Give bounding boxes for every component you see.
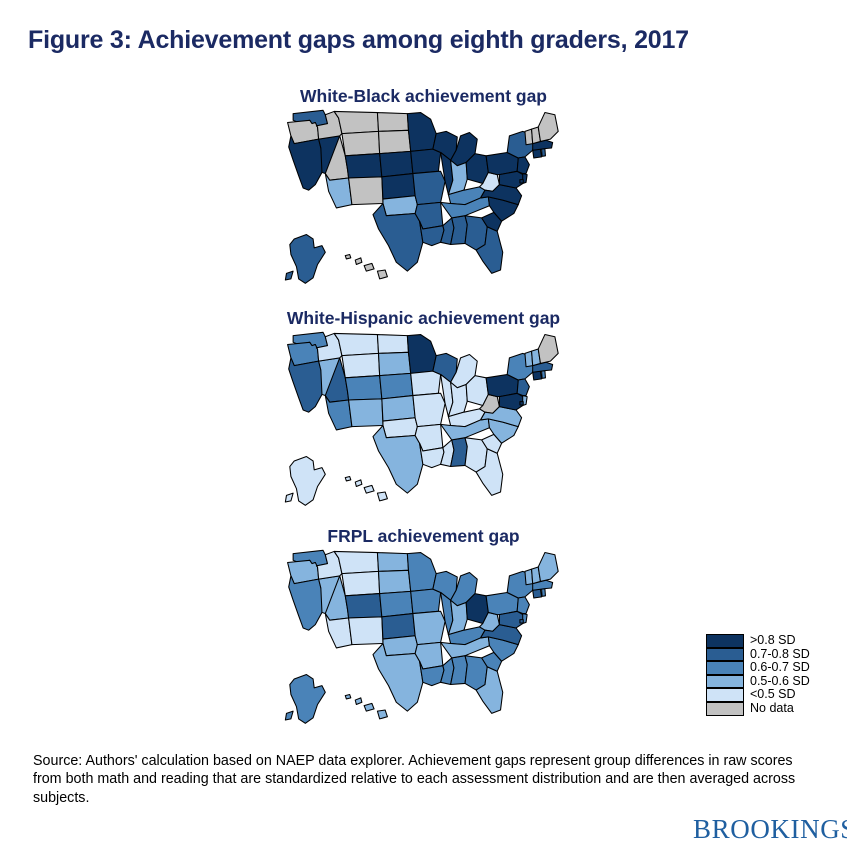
state-hi[interactable]: HI: <0.5 SD — [345, 477, 387, 501]
state-wy[interactable]: WY: <0.5 SD — [341, 571, 379, 595]
choropleth-map-frpl[interactable]: WA: 0.6-0.7 SDOR: 0.5-0.6 SDCA: 0.6-0.7 … — [274, 547, 574, 730]
us-choropleth-svg: WA: 0.7-0.8 SDOR: No dataCA: >0.8 SDNV: … — [274, 107, 574, 290]
state-ri[interactable]: RI: 0.6-0.7 SD — [541, 371, 545, 379]
legend-item: >0.8 SD — [706, 634, 838, 648]
state-ak[interactable]: AK: 0.7-0.8 SD — [285, 235, 325, 284]
state-al[interactable]: AL: 0.7-0.8 SD — [450, 438, 467, 467]
state-ok[interactable]: OK: 0.5-0.6 SD — [382, 196, 416, 216]
state-az[interactable]: AZ: 0.6-0.7 SD — [325, 396, 352, 430]
legend-label: 0.5-0.6 SD — [750, 675, 810, 689]
state-mo[interactable]: MO: 0.7-0.8 SD — [412, 171, 444, 204]
state-ia[interactable]: IA: <0.5 SD — [410, 371, 440, 395]
map-panel-title: FRPL achievement gap — [0, 526, 847, 547]
legend-item: <0.5 SD — [706, 688, 838, 702]
legend-swatch — [706, 648, 744, 662]
legend-label: <0.5 SD — [750, 688, 796, 702]
map-panel-white-hispanic: White-Hispanic achievement gap WA: 0.6-0… — [0, 308, 847, 512]
state-ne[interactable]: NE: 0.6-0.7 SD — [379, 591, 412, 617]
state-wy[interactable]: WY: <0.5 SD — [341, 353, 379, 377]
legend-item: No data — [706, 702, 838, 716]
map-container: WA: 0.6-0.7 SDOR: 0.6-0.7 SDCA: 0.7-0.8 … — [0, 329, 847, 512]
source-note: Source: Authors' calculation based on NA… — [33, 752, 823, 807]
state-nm[interactable]: NM: 0.5-0.6 SD — [348, 399, 382, 427]
state-ri[interactable]: RI: 0.6-0.7 SD — [541, 589, 545, 597]
state-ne[interactable]: NE: >0.8 SD — [379, 151, 412, 177]
state-co[interactable]: CO: 0.7-0.8 SD — [345, 594, 382, 618]
legend-label: No data — [750, 702, 794, 716]
state-nd[interactable]: ND: <0.5 SD — [377, 335, 408, 354]
legend-label: >0.8 SD — [750, 634, 796, 648]
state-ak[interactable]: AK: <0.5 SD — [285, 457, 325, 506]
state-mt[interactable]: MT: <0.5 SD — [334, 551, 378, 573]
legend-swatch — [706, 634, 744, 648]
state-mn[interactable]: MN: >0.8 SD — [407, 113, 436, 152]
state-nd[interactable]: ND: 0.5-0.6 SD — [377, 553, 408, 572]
map-container: WA: 0.7-0.8 SDOR: No dataCA: >0.8 SDNV: … — [0, 107, 847, 290]
state-co[interactable]: CO: >0.8 SD — [345, 154, 382, 178]
state-me[interactable]: ME: No data — [538, 113, 558, 142]
state-al[interactable]: AL: 0.6-0.7 SD — [450, 656, 467, 685]
state-mt[interactable]: MT: <0.5 SD — [334, 333, 378, 355]
state-mo[interactable]: MO: <0.5 SD — [412, 393, 444, 426]
us-choropleth-svg: WA: 0.6-0.7 SDOR: 0.5-0.6 SDCA: 0.6-0.7 … — [274, 547, 574, 730]
state-nj[interactable]: NJ: 0.6-0.7 SD — [517, 597, 529, 614]
state-me[interactable]: ME: 0.5-0.6 SD — [538, 553, 558, 582]
state-az[interactable]: AZ: 0.5-0.6 SD — [325, 174, 352, 208]
state-nj[interactable]: NJ: >0.8 SD — [517, 157, 529, 174]
state-nm[interactable]: NM: <0.5 SD — [348, 617, 382, 645]
legend-swatch — [706, 702, 744, 716]
legend-swatch — [706, 661, 744, 675]
state-dc[interactable]: DC: >0.8 SD — [519, 402, 522, 405]
state-sd[interactable]: SD: 0.5-0.6 SD — [378, 570, 410, 593]
state-mn[interactable]: MN: 0.6-0.7 SD — [407, 553, 436, 592]
legend-swatch — [706, 675, 744, 689]
brookings-logo: BROOKINGS — [693, 814, 847, 845]
us-choropleth-svg: WA: 0.6-0.7 SDOR: 0.6-0.7 SDCA: 0.7-0.8 … — [274, 329, 574, 512]
choropleth-map-white-hispanic[interactable]: WA: 0.6-0.7 SDOR: 0.6-0.7 SDCA: 0.7-0.8 … — [274, 329, 574, 512]
map-panel-title: White-Hispanic achievement gap — [0, 308, 847, 329]
state-al[interactable]: AL: 0.7-0.8 SD — [450, 216, 467, 245]
legend-label: 0.7-0.8 SD — [750, 648, 810, 662]
state-co[interactable]: CO: 0.6-0.7 SD — [345, 376, 382, 400]
legend-swatch — [706, 688, 744, 702]
state-ia[interactable]: IA: >0.8 SD — [410, 149, 440, 173]
choropleth-map-white-black[interactable]: WA: 0.7-0.8 SDOR: No dataCA: >0.8 SDNV: … — [274, 107, 574, 290]
state-ak[interactable]: AK: 0.6-0.7 SD — [285, 675, 325, 724]
legend-item: 0.5-0.6 SD — [706, 675, 838, 689]
state-ks[interactable]: KS: >0.8 SD — [381, 174, 414, 200]
state-ne[interactable]: NE: 0.6-0.7 SD — [379, 373, 412, 399]
map-panel-white-black: White-Black achievement gap WA: 0.7-0.8 … — [0, 86, 847, 290]
state-sd[interactable]: SD: 0.5-0.6 SD — [378, 352, 410, 375]
state-mt[interactable]: MT: No data — [334, 111, 378, 133]
state-az[interactable]: AZ: <0.5 SD — [325, 614, 352, 648]
map-panel-title: White-Black achievement gap — [0, 86, 847, 107]
state-nj[interactable]: NJ: 0.7-0.8 SD — [517, 379, 529, 396]
state-mn[interactable]: MN: >0.8 SD — [407, 335, 436, 374]
state-dc[interactable]: DC: 0.7-0.8 SD — [519, 620, 522, 623]
state-hi[interactable]: HI: 0.5-0.6 SD — [345, 695, 387, 719]
state-ks[interactable]: KS: 0.5-0.6 SD — [381, 396, 414, 422]
page-title: Figure 3: Achievement gaps among eighth … — [28, 26, 689, 55]
state-ok[interactable]: OK: 0.5-0.6 SD — [382, 636, 416, 656]
state-dc[interactable]: DC: >0.8 SD — [519, 180, 522, 183]
state-mo[interactable]: MO: 0.5-0.6 SD — [412, 611, 444, 644]
state-ks[interactable]: KS: 0.7-0.8 SD — [381, 614, 414, 640]
figure-root: Figure 3: Achievement gaps among eighth … — [0, 0, 847, 846]
state-wy[interactable]: WY: No data — [341, 131, 379, 155]
legend-item: 0.6-0.7 SD — [706, 661, 838, 675]
legend-item: 0.7-0.8 SD — [706, 648, 838, 662]
legend-label: 0.6-0.7 SD — [750, 661, 810, 675]
state-nm[interactable]: NM: No data — [348, 177, 382, 205]
state-nd[interactable]: ND: No data — [377, 113, 408, 132]
state-hi[interactable]: HI: No data — [345, 255, 387, 279]
state-ia[interactable]: IA: 0.6-0.7 SD — [410, 589, 440, 613]
state-me[interactable]: ME: No data — [538, 335, 558, 364]
state-ri[interactable]: RI: 0.7-0.8 SD — [541, 149, 545, 157]
legend: >0.8 SD0.7-0.8 SD0.6-0.7 SD0.5-0.6 SD<0.… — [706, 634, 838, 716]
state-ok[interactable]: OK: <0.5 SD — [382, 418, 416, 438]
state-sd[interactable]: SD: No data — [378, 130, 410, 153]
